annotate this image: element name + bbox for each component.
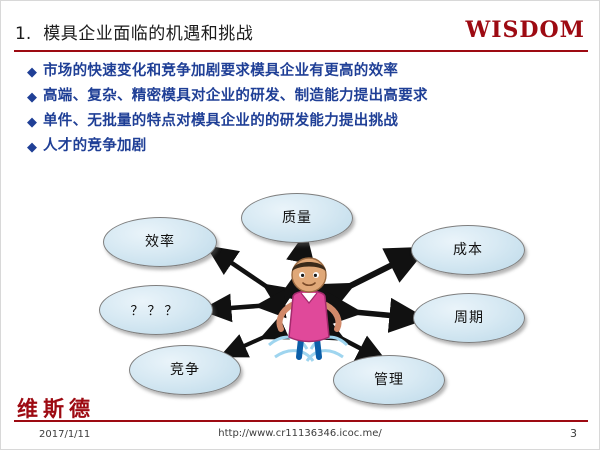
list-item: ◆ 市场的快速变化和竞争加剧要求模具企业有更高的效率 bbox=[27, 63, 583, 80]
brand-logo: WISDOM bbox=[466, 17, 585, 43]
bullet-list: ◆ 市场的快速变化和竞争加剧要求模具企业有更高的效率 ◆ 高端、复杂、精密模具对… bbox=[27, 63, 583, 163]
diamond-bullet-icon: ◆ bbox=[27, 141, 37, 154]
diamond-bullet-icon: ◆ bbox=[27, 91, 37, 104]
diagram-node-label: 管理 bbox=[374, 369, 404, 389]
slide-title-number: 1. bbox=[15, 24, 31, 44]
bullet-text: 单件、无批量的特点对模具企业的的研发能力提出挑战 bbox=[43, 113, 398, 130]
list-item: ◆ 单件、无批量的特点对模具企业的的研发能力提出挑战 bbox=[27, 113, 583, 130]
person-icon bbox=[259, 253, 359, 373]
diagram-node-jingzheng: 竞争 bbox=[129, 345, 241, 395]
diagram-node-label: 竞争 bbox=[170, 359, 200, 379]
diagram-node-label: 周期 bbox=[454, 307, 484, 327]
page-title: 模具企业面临的机遇和挑战 bbox=[43, 19, 253, 44]
diagram-node-question: ？？？ bbox=[99, 285, 213, 335]
slide-title-row: 1. 模具企业面临的机遇和挑战 bbox=[15, 19, 355, 44]
diagram-node-label: 效率 bbox=[145, 231, 175, 251]
diagram-node-xiaolv: 效率 bbox=[103, 217, 217, 267]
diagram-node-label: ？？？ bbox=[130, 300, 181, 319]
diagram-node-chengben: 成本 bbox=[411, 225, 525, 275]
slide: 1. 模具企业面临的机遇和挑战 WISDOM ◆ 市场的快速变化和竞争加剧要求模… bbox=[0, 0, 600, 450]
challenges-diagram: 效率 质量 成本 ？？？ 周期 竞争 管理 bbox=[81, 193, 531, 408]
list-item: ◆ 高端、复杂、精密模具对企业的研发、制造能力提出高要求 bbox=[27, 88, 583, 105]
footer-page-number: 3 bbox=[570, 427, 577, 440]
diagram-node-label: 质量 bbox=[282, 207, 312, 227]
diagram-node-zhiliang: 质量 bbox=[241, 193, 353, 243]
bullet-text: 人才的竞争加剧 bbox=[43, 138, 147, 155]
footer-url[interactable]: http://www.cr11136346.icoc.me/ bbox=[1, 428, 599, 439]
diamond-bullet-icon: ◆ bbox=[27, 66, 37, 79]
list-item: ◆ 人才的竞争加剧 bbox=[27, 138, 583, 155]
bullet-text: 高端、复杂、精密模具对企业的研发、制造能力提出高要求 bbox=[43, 88, 428, 105]
footer-divider bbox=[14, 420, 588, 422]
diagram-node-label: 成本 bbox=[453, 239, 483, 259]
bullet-text: 市场的快速变化和竞争加剧要求模具企业有更高的效率 bbox=[43, 63, 398, 80]
diagram-node-zhouqi: 周期 bbox=[413, 293, 525, 343]
company-logo-cn: 维斯德 bbox=[17, 393, 95, 423]
title-divider bbox=[14, 50, 588, 52]
diamond-bullet-icon: ◆ bbox=[27, 116, 37, 129]
